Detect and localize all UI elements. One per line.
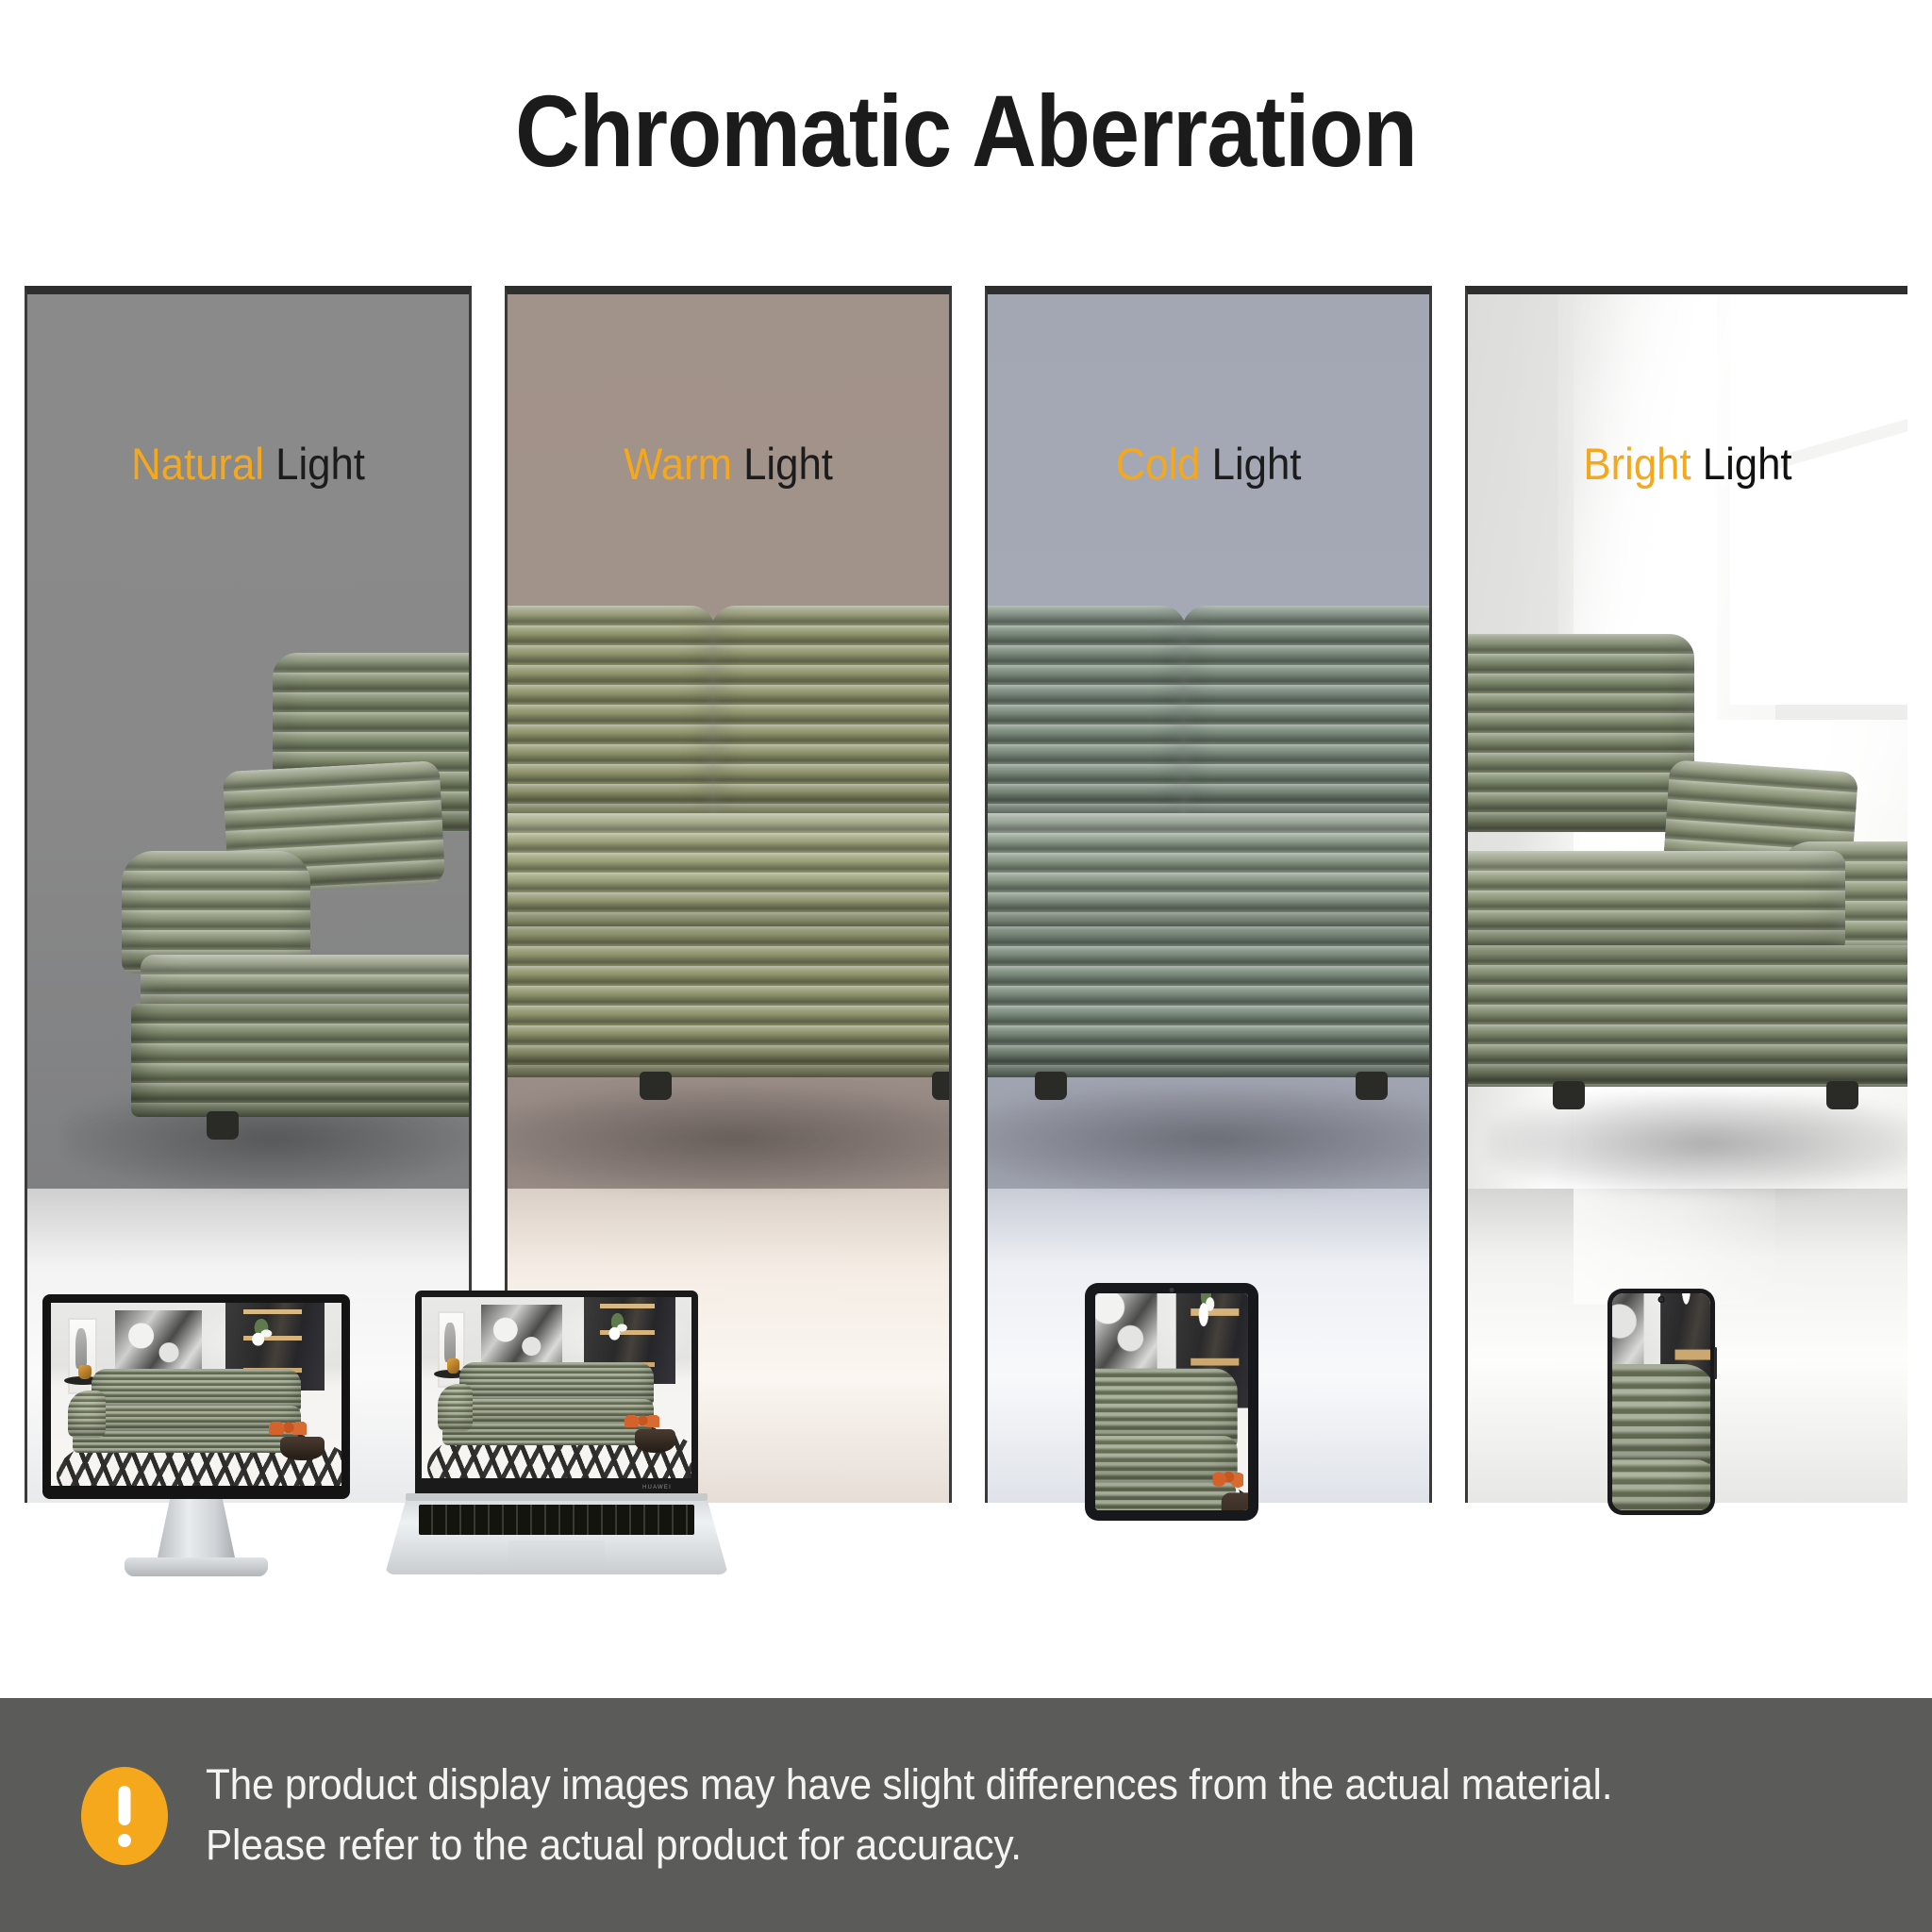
decor-plant: [1676, 1293, 1700, 1311]
scene-sofa: [1612, 1364, 1710, 1510]
decor-plant: [1193, 1293, 1220, 1331]
decor-plant: [245, 1319, 277, 1348]
living-room-scene: [1612, 1293, 1710, 1510]
decor-plant: [603, 1313, 632, 1342]
monitor-stand-neck: [158, 1499, 235, 1557]
laptop-screen: [422, 1297, 691, 1478]
power-button[interactable]: [1714, 1347, 1717, 1379]
camera-icon: [1658, 1296, 1665, 1303]
sofa-cold: [985, 606, 1432, 1106]
panel-label-rest: Light: [264, 439, 365, 489]
disclaimer-line-1: The product display images may have slig…: [206, 1755, 1612, 1815]
exclamation-stem: [119, 1786, 131, 1825]
panel-label-warm: Warm Light: [523, 438, 933, 490]
panel-label-highlight: Warm: [624, 439, 732, 489]
panel-label-rest: Light: [1691, 439, 1792, 489]
decor-bowl: [1222, 1492, 1248, 1510]
panel-label-natural: Natural Light: [42, 438, 453, 490]
panel-label-rest: Light: [732, 439, 833, 489]
decor-fruit: [1693, 1502, 1710, 1510]
panel-label-highlight: Bright: [1583, 439, 1690, 489]
laptop-keyboard[interactable]: [419, 1505, 693, 1535]
tablet-screen: [1095, 1293, 1248, 1510]
desktop-monitor-mockup: [42, 1294, 350, 1576]
laptop-brand-label: HUAWEI: [642, 1485, 672, 1491]
decor-fruit: [1212, 1466, 1243, 1490]
laptop-trackpad[interactable]: [508, 1541, 605, 1565]
monitor-screen: [51, 1303, 341, 1486]
scene-sofa: [68, 1369, 300, 1453]
living-room-scene: [422, 1297, 691, 1478]
decor-fruit: [269, 1422, 307, 1435]
laptop-deck: [385, 1501, 728, 1574]
scene-sofa: [438, 1362, 654, 1445]
sofa-warm: [505, 606, 952, 1106]
warning-exclamation-icon: [81, 1767, 168, 1865]
decor-statue: [444, 1323, 455, 1362]
smartphone-mockup: [1607, 1289, 1715, 1515]
decor-fruit: [625, 1415, 659, 1427]
panel-label-rest: Light: [1200, 439, 1301, 489]
decor-bowl: [280, 1437, 324, 1460]
living-room-scene: [51, 1303, 341, 1486]
tablet-mockup: [1085, 1283, 1258, 1521]
laptop-lid: HUAWEI: [415, 1291, 698, 1493]
decor-statue: [75, 1328, 87, 1369]
exclamation-dot: [118, 1834, 131, 1847]
page-title: Chromatic Aberration: [116, 72, 1816, 190]
monitor-stand-base: [125, 1557, 268, 1576]
disclaimer-line-2: Please refer to the actual product for a…: [206, 1815, 1612, 1875]
sofa-bright: [1465, 625, 1907, 1106]
panel-label-highlight: Natural: [131, 439, 264, 489]
device-mockup-row: HUAWEI: [0, 1283, 1932, 1698]
panel-label-bright: Bright Light: [1483, 438, 1891, 490]
laptop-mockup: HUAWEI: [385, 1291, 728, 1574]
phone-screen: [1612, 1293, 1710, 1510]
tablet-bezel: [1085, 1283, 1258, 1521]
disclaimer-text: The product display images may have slig…: [206, 1755, 1612, 1875]
living-room-scene: [1095, 1293, 1248, 1510]
monitor-bezel: [42, 1294, 350, 1499]
sofa-natural: [84, 653, 472, 1106]
decor-bowl: [635, 1429, 675, 1453]
panel-label-cold: Cold Light: [1003, 438, 1413, 490]
disclaimer-bar: The product display images may have slig…: [0, 1698, 1932, 1932]
camera-icon: [1170, 1288, 1174, 1292]
panel-label-highlight: Cold: [1116, 439, 1201, 489]
laptop-hinge: [406, 1493, 708, 1501]
phone-bezel: [1607, 1289, 1715, 1515]
